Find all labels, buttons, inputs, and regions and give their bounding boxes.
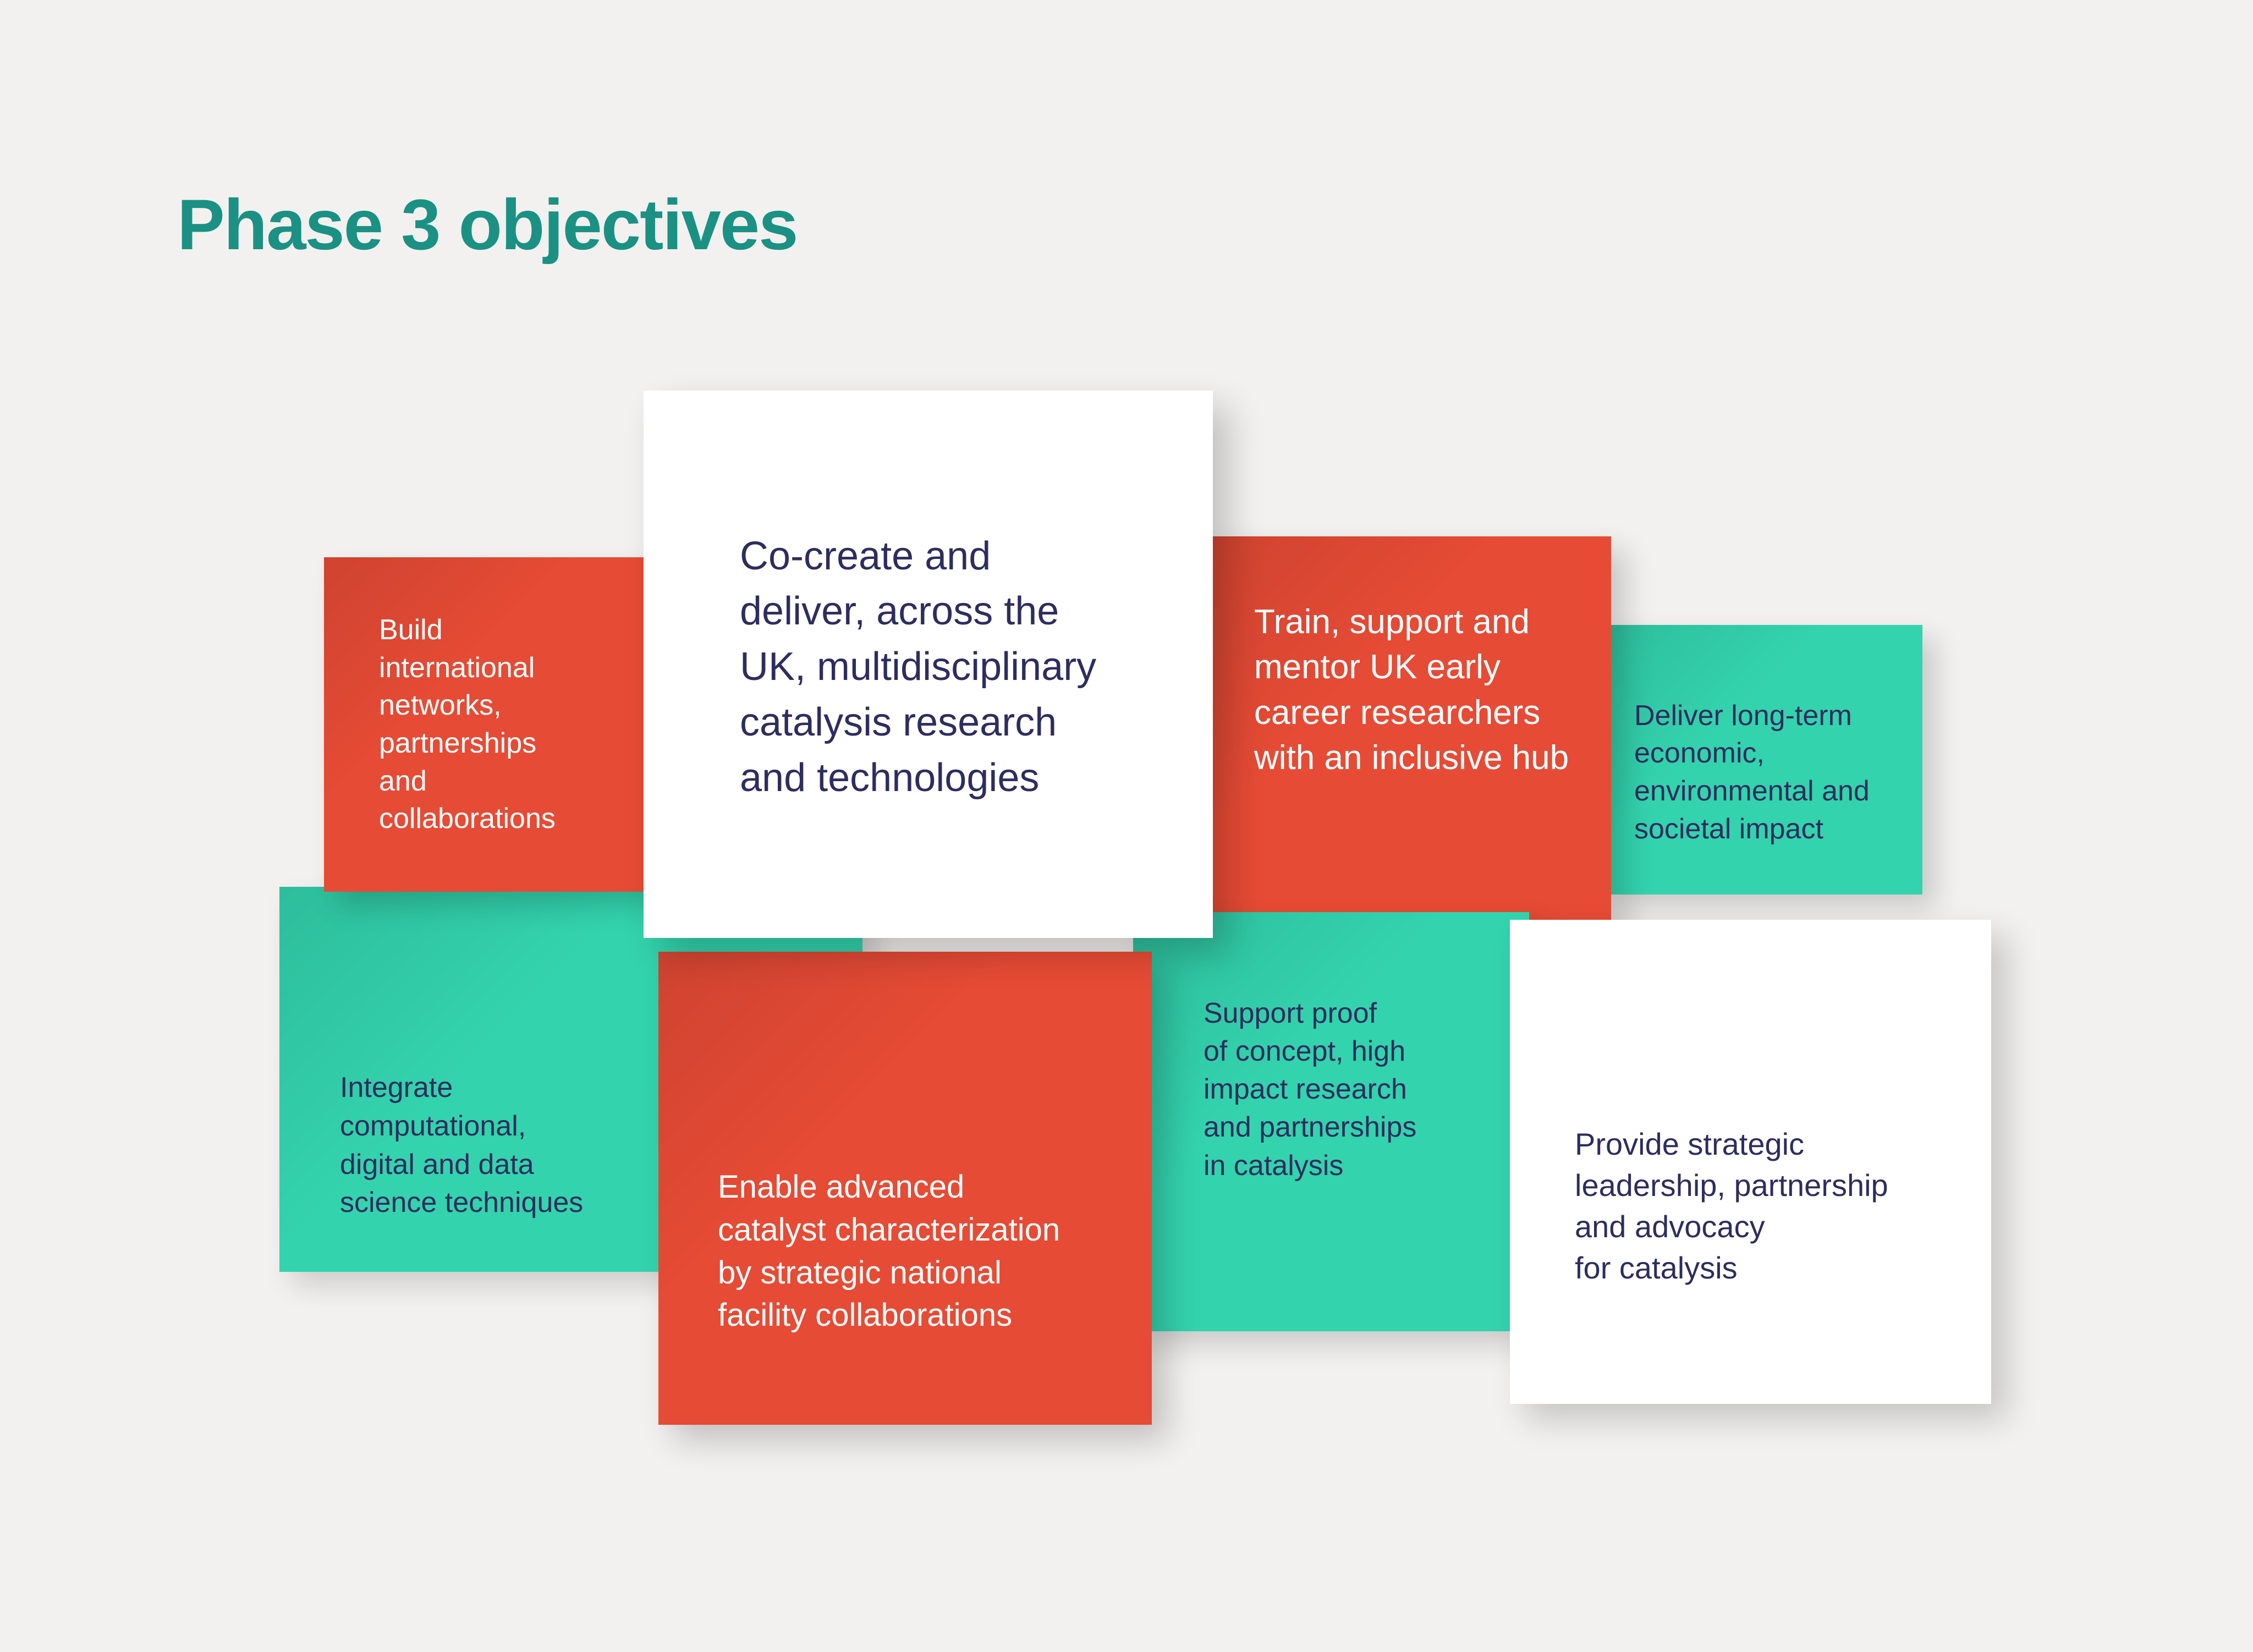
objective-card-cocreate: Co-create and deliver, across the UK, mu… — [644, 391, 1213, 938]
objective-card-provide: Provide strategic leadership, partnershi… — [1510, 920, 1991, 1404]
page-title: Phase 3 objectives — [177, 187, 797, 262]
objective-card-support-text: Support proof of concept, high impact re… — [1133, 912, 1431, 1185]
objective-card-support: Support proof of concept, high impact re… — [1133, 912, 1529, 1331]
objective-card-provide-text: Provide strategic leadership, partnershi… — [1510, 1123, 1903, 1288]
objective-card-deliver: Deliver long-term economic, environmenta… — [1598, 625, 1922, 894]
objective-card-build-text: Build international networks, partnershi… — [324, 611, 572, 838]
objective-card-deliver-text: Deliver long-term economic, environmenta… — [1598, 697, 1884, 848]
objective-card-enable-text: Enable advanced catalyst characterizatio… — [658, 1166, 1076, 1425]
objective-card-enable: Enable advanced catalyst characterizatio… — [658, 952, 1152, 1425]
objective-card-build: Build international networks, partnershi… — [324, 557, 665, 892]
slide-canvas: Phase 3 objectives Build international n… — [0, 0, 2253, 1652]
objective-card-integrate-text: Integrate computational, digital and dat… — [279, 1069, 600, 1272]
objective-card-train-text: Train, support and mentor UK early caree… — [1201, 536, 1585, 781]
objective-card-cocreate-text: Co-create and deliver, across the UK, mu… — [644, 529, 1129, 806]
objective-card-train: Train, support and mentor UK early caree… — [1201, 536, 1611, 935]
